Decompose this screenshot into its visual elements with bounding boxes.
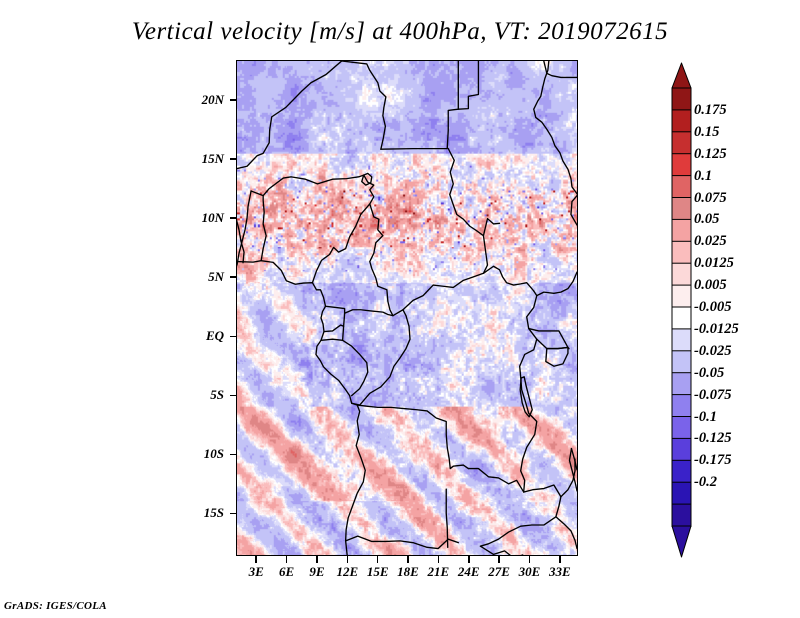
latitude-tick xyxy=(230,395,237,397)
colorbar-tick-label: -0.025 xyxy=(694,344,731,359)
colorbar-tick-label: 0.025 xyxy=(694,234,727,249)
latitude-tick-label: 10N xyxy=(202,210,224,226)
colorbar-band xyxy=(672,482,691,504)
latitude-tick-label: 10S xyxy=(204,446,224,462)
colorbar-band xyxy=(672,417,691,439)
longitude-tick xyxy=(407,556,409,563)
colorbar-extend-min-arrow xyxy=(672,526,691,557)
longitude-tick xyxy=(529,556,531,563)
colorbar-band xyxy=(672,219,691,241)
colorbar-tick-label: -0.075 xyxy=(694,388,731,403)
colorbar-band xyxy=(672,263,691,285)
longitude-tick-label: 33E xyxy=(538,564,582,580)
colorbar[interactable]: 0.1750.150.1250.10.0750.050.0250.01250.0… xyxy=(660,58,800,566)
colorbar-tick-label: -0.125 xyxy=(694,431,731,446)
latitude-tick-label: 15S xyxy=(204,505,224,521)
colorbar-band xyxy=(672,329,691,351)
latitude-tick-label: 5N xyxy=(208,269,224,285)
colorbar-band xyxy=(672,307,691,329)
colorbar-tick-label: 0.005 xyxy=(694,278,727,293)
colorbar-tick-label: -0.175 xyxy=(694,453,731,468)
colorbar-band xyxy=(672,351,691,373)
latitude-tick-label: EQ xyxy=(206,328,224,344)
colorbar-tick-label: -0.1 xyxy=(694,410,717,425)
longitude-tick xyxy=(286,556,288,563)
grads-plot: Vertical velocity [m/s] at 400hPa, VT: 2… xyxy=(0,0,800,618)
page-title: Vertical velocity [m/s] at 400hPa, VT: 2… xyxy=(0,18,800,46)
latitude-tick xyxy=(230,336,237,338)
colorbar-tick-label: 0.125 xyxy=(694,147,727,162)
longitude-tick xyxy=(255,556,257,563)
longitude-tick xyxy=(316,556,318,563)
colorbar-tick-label: -0.2 xyxy=(694,475,717,490)
latitude-tick xyxy=(230,276,237,278)
colorbar-band xyxy=(672,504,691,526)
colorbar-extend-max-arrow xyxy=(672,63,691,88)
vertical-velocity-field xyxy=(237,61,577,555)
latitude-tick xyxy=(230,99,237,101)
colorbar-tick-label: 0.0125 xyxy=(694,256,734,271)
colorbar-tick-label: 0.05 xyxy=(694,212,719,227)
colorbar-band xyxy=(672,176,691,198)
latitude-tick-label: 15N xyxy=(202,151,224,167)
colorbar-tick-label: -0.005 xyxy=(694,300,731,315)
colorbar-band xyxy=(672,154,691,176)
colorbar-tick-label: 0.075 xyxy=(694,191,727,206)
colorbar-tick-label: 0.15 xyxy=(694,125,719,140)
map-panel[interactable] xyxy=(236,60,578,556)
colorbar-band xyxy=(672,88,691,110)
longitude-tick xyxy=(377,556,379,563)
colorbar-band xyxy=(672,438,691,460)
colorbar-band xyxy=(672,198,691,220)
attribution-label: GrADS: IGES/COLA xyxy=(4,600,107,612)
longitude-tick xyxy=(438,556,440,563)
colorbar-band xyxy=(672,110,691,132)
longitude-tick xyxy=(498,556,500,563)
colorbar-band xyxy=(672,132,691,154)
latitude-tick xyxy=(230,217,237,219)
colorbar-tick-label: -0.0125 xyxy=(694,322,739,337)
latitude-tick-label: 5S xyxy=(210,387,224,403)
colorbar-tick-label: -0.05 xyxy=(694,366,724,381)
colorbar-band xyxy=(672,285,691,307)
colorbar-band xyxy=(672,373,691,395)
colorbar-band xyxy=(672,395,691,417)
colorbar-tick-label: 0.1 xyxy=(694,169,712,184)
longitude-tick xyxy=(468,556,470,563)
latitude-tick xyxy=(230,454,237,456)
latitude-tick xyxy=(230,158,237,160)
latitude-tick-label: 20N xyxy=(202,92,224,108)
longitude-tick xyxy=(347,556,349,563)
colorbar-band xyxy=(672,460,691,482)
latitude-tick xyxy=(230,513,237,515)
colorbar-tick-label: 0.175 xyxy=(694,103,727,118)
colorbar-band xyxy=(672,241,691,263)
longitude-tick xyxy=(559,556,561,563)
